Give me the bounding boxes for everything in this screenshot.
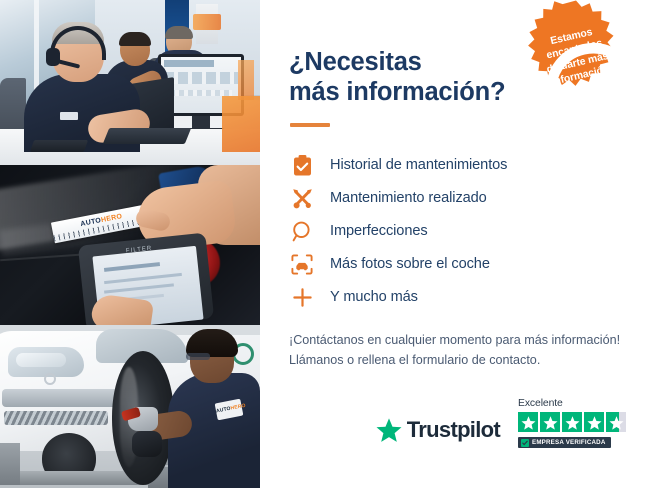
list-item-label: Mantenimiento realizado [330,190,487,206]
list-item: Más fotos sobre el coche [289,248,626,280]
trustpilot-logo[interactable]: Trustpilot [376,417,500,448]
agent-three-hair [165,26,193,39]
ruler-brand-auto: AUTO [80,217,102,228]
list-item-label: Más fotos sobre el coche [330,256,490,272]
verified-label: EMPRESA VERIFICADA [532,439,606,446]
feature-list: Historial de mantenimientos Ma [289,149,626,313]
uniform-badge-auto: AUTO [216,406,232,415]
car-photo-frame-icon [289,251,315,277]
call-center-agents-photo [0,0,260,165]
list-item-label: Imperfecciones [330,223,428,239]
monitor-screen-header [164,60,214,67]
list-item: Mantenimiento realizado [289,182,626,214]
agent-one-name-tag [60,112,78,120]
title-divider [290,123,330,127]
check-square-icon [521,439,529,447]
title-line-1: ¿Necesitas [289,48,422,76]
paragraph-line-2: Llámanos o rellena el formulario de cont… [289,353,540,367]
information-banner: AUTOHERO FILTER [0,0,650,488]
list-item-label: Historial de mantenimientos [330,157,507,173]
ruler-brand-hero: HERO [100,213,122,224]
tools-cross-icon [289,185,315,211]
orange-equipment-back [238,60,254,100]
wall-poster-orange [193,14,221,30]
magnifier-icon [289,218,315,244]
car-bumper [2,389,120,407]
mechanic-glove-lower [132,431,162,457]
orange-equipment [222,96,260,152]
car-inspection-ruler-photo: AUTOHERO FILTER [0,165,260,325]
list-item: Y mucho más [289,281,626,313]
mechanic-safety-glasses [186,353,210,360]
paragraph-line-1: ¡Contáctanos en cualquier momento para m… [289,333,620,347]
star-filled-2 [540,412,560,432]
rating-label: Excelente [518,398,563,409]
status-badge-verified: EMPRESA VERIFICADA [518,437,611,448]
trustpilot-score: Excelente EMPRESA VERIFICADA [518,398,626,448]
desk-tablet [30,140,88,152]
list-item: Imperfecciones [289,215,626,247]
title-line-2: más información? [289,78,505,106]
star-filled-1 [518,412,538,432]
plus-icon [289,284,315,310]
star-filled-3 [562,412,582,432]
status-badge: Estamos encantados de darte más informac… [517,0,635,116]
star-partial-5 [606,412,626,432]
clipboard-check-icon [289,152,315,178]
star-filled-4 [584,412,604,432]
car-headlight-inner [16,353,66,367]
monitor-screen-thumbnails [164,72,238,84]
list-item: Historial de mantenimientos [289,149,626,181]
vehicle-lift-post [0,443,20,485]
car-lower-grille [4,411,108,425]
star-icon [376,417,402,443]
headset-icon [521,16,650,158]
contact-paragraph: ¡Contáctanos en cualquier momento para m… [289,331,626,371]
agent-two-hair [119,32,151,46]
trustpilot-rating[interactable]: Trustpilot Excelente EMPRESA VERIFICADA [289,398,626,448]
photo-collage: AUTOHERO FILTER [0,0,260,488]
list-item-label: Y mucho más [330,289,418,305]
banner-content: ¿Necesitas más información? Historial de… [260,0,650,488]
star-rating [518,412,626,432]
trustpilot-wordmark: Trustpilot [407,417,500,443]
car-emblem [44,373,56,385]
laptop-keyboard [103,128,191,144]
mechanic-tire-check-photo: AUTOHERO [0,325,260,488]
